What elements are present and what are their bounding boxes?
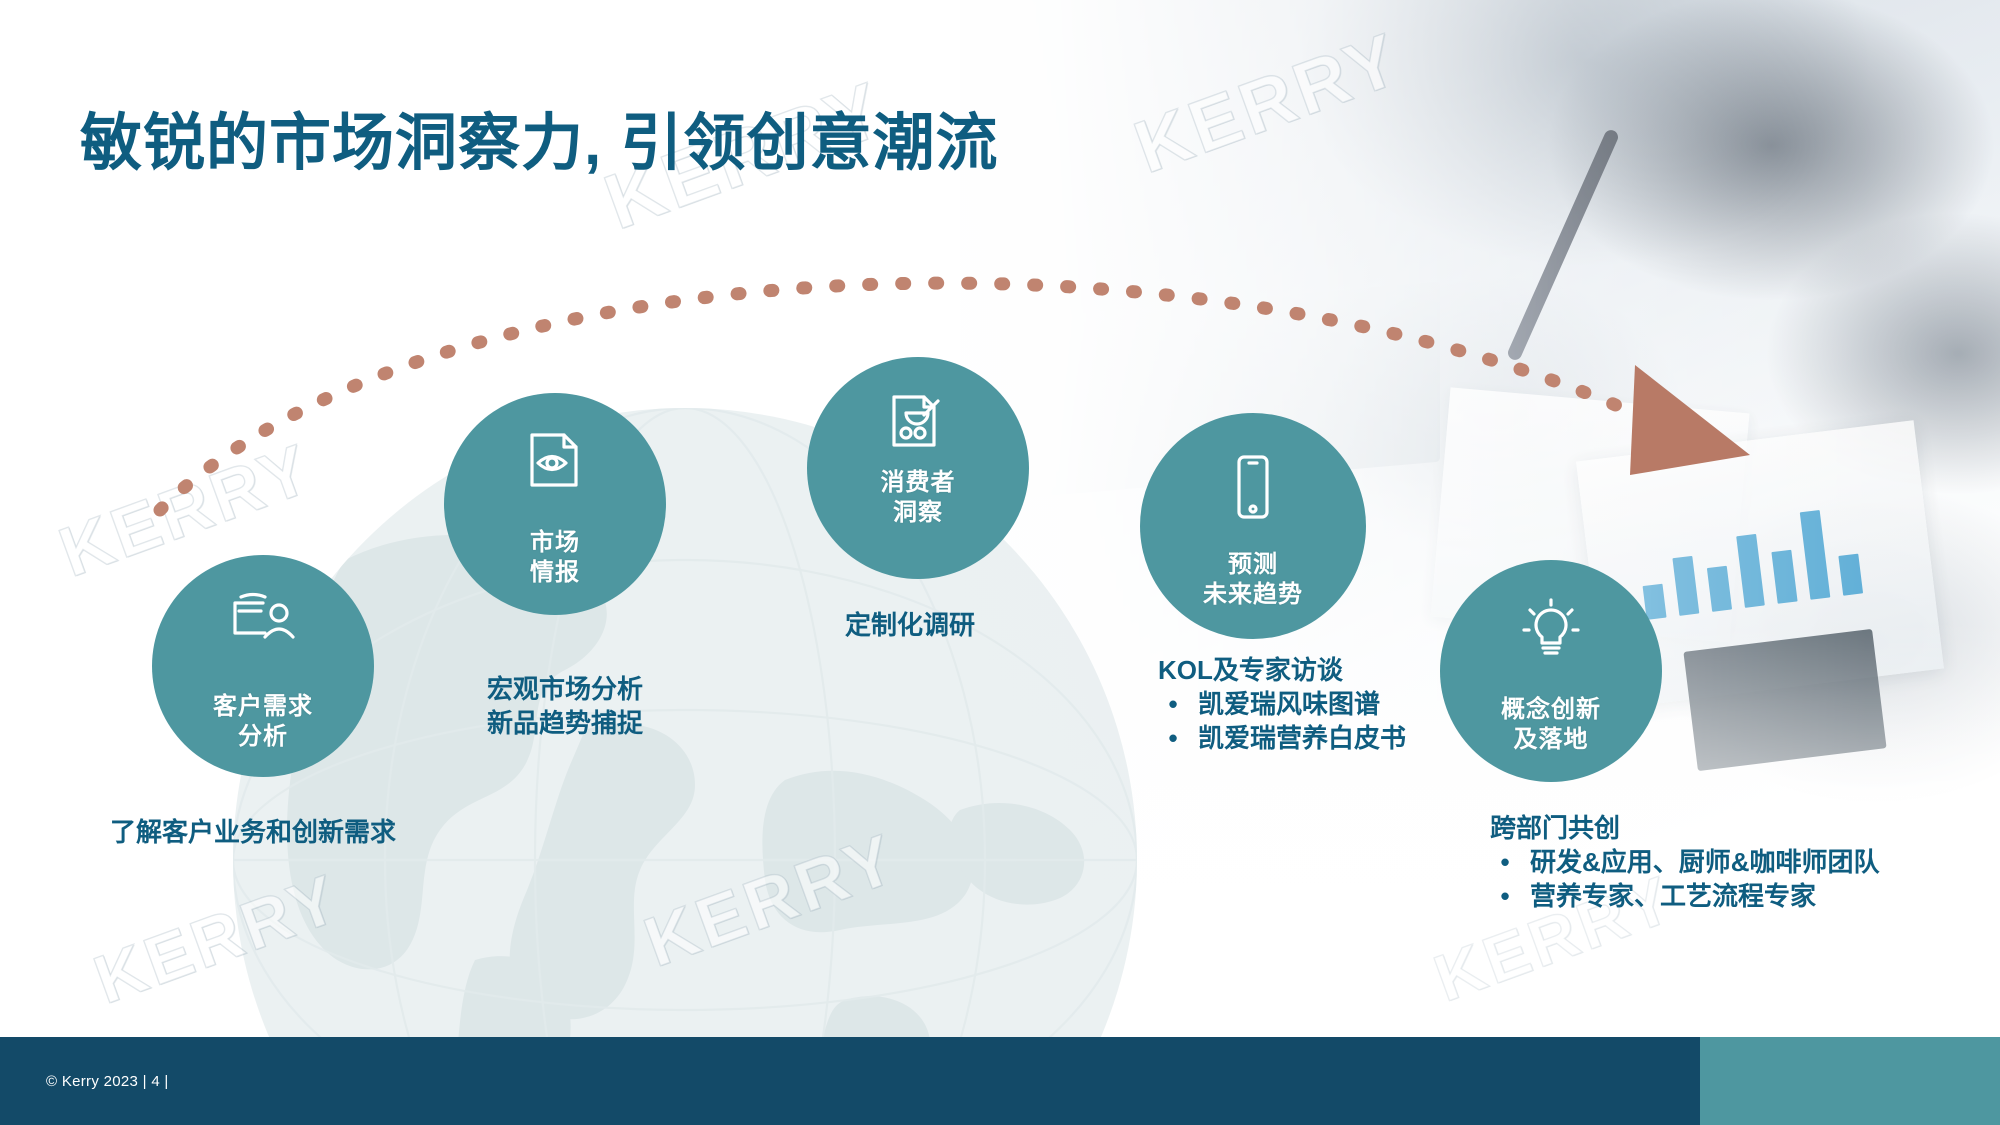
node-label-line2: 洞察: [881, 498, 956, 527]
footer-copyright: © Kerry 2023 | 4 |: [46, 1073, 169, 1090]
node-label-line1: 消费者: [881, 468, 956, 497]
node-label-line1: 概念创新: [1501, 695, 1601, 724]
node-label-line2: 分析: [213, 722, 313, 751]
node-label-line2: 未来趋势: [1203, 580, 1303, 609]
mortar-pestle-document-icon: [807, 391, 1029, 453]
caption-heading: 宏观市场分析: [487, 673, 643, 707]
slide-root: KERRY KERRY KERRY KERRY KERRY KERRY 敏锐的市…: [0, 0, 2000, 1125]
bullet-text: 营养专家、工艺流程专家: [1530, 880, 1816, 914]
clipboard-person-icon: [152, 591, 374, 651]
node-label-line2: 及落地: [1501, 725, 1601, 754]
footer-navy-bar: © Kerry 2023 | 4 |: [0, 1037, 1700, 1125]
document-eye-icon: [444, 429, 666, 491]
lightbulb-icon: [1440, 596, 1662, 658]
caption-heading: 定制化调研: [845, 609, 975, 643]
bullet-dot: •: [1490, 846, 1520, 880]
caption-cross-department: 跨部门共创 • 研发&应用、厨师&咖啡师团队 • 营养专家、工艺流程专家: [1490, 812, 1880, 913]
caption-heading: 跨部门共创: [1490, 812, 1880, 846]
bullet-text: 凯爱瑞营养白皮书: [1198, 722, 1406, 756]
node-label-line1: 客户需求: [213, 692, 313, 721]
node-concept-innovation[interactable]: 概念创新 及落地: [1440, 560, 1662, 782]
node-label: 市场 情报: [530, 528, 580, 587]
caption-kol: KOL及专家访谈 • 凯爱瑞风味图谱 • 凯爱瑞营养白皮书: [1158, 654, 1406, 755]
node-label-line2: 情报: [530, 558, 580, 587]
caption-bullet: • 研发&应用、厨师&咖啡师团队: [1490, 846, 1880, 880]
bullet-dot: •: [1158, 688, 1188, 722]
bullet-dot: •: [1158, 722, 1188, 756]
page-title: 敏锐的市场洞察力, 引领创意潮流: [80, 92, 998, 182]
caption-custom-research: 定制化调研: [845, 609, 975, 643]
node-consumer-insight[interactable]: 消费者 洞察: [807, 357, 1029, 579]
caption-subheading: 新品趋势捕捉: [487, 707, 643, 741]
node-label-line1: 预测: [1203, 550, 1303, 579]
node-label-line1: 市场: [530, 528, 580, 557]
caption-bullet: • 营养专家、工艺流程专家: [1490, 880, 1880, 914]
slide-footer: © Kerry 2023 | 4 |: [0, 1037, 2000, 1125]
node-label: 客户需求 分析: [213, 692, 313, 751]
bullet-text: 研发&应用、厨师&咖啡师团队: [1530, 846, 1880, 880]
node-market-intelligence[interactable]: 市场 情报: [444, 393, 666, 615]
caption-bullet: • 凯爱瑞营养白皮书: [1158, 722, 1406, 756]
bullet-dot: •: [1490, 880, 1520, 914]
node-label: 预测 未来趋势: [1203, 550, 1303, 609]
node-trend-forecast[interactable]: 预测 未来趋势: [1140, 413, 1366, 639]
caption-heading: KOL及专家访谈: [1158, 654, 1406, 688]
node-label: 消费者 洞察: [881, 468, 956, 527]
caption-market-intelligence: 宏观市场分析 新品趋势捕捉: [487, 673, 643, 741]
bullet-text: 凯爱瑞风味图谱: [1198, 688, 1380, 722]
caption-heading: 了解客户业务和创新需求: [110, 816, 396, 850]
node-customer-needs[interactable]: 客户需求 分析: [152, 555, 374, 777]
footer-teal-bar: [1700, 1037, 2000, 1125]
caption-bullet: • 凯爱瑞风味图谱: [1158, 688, 1406, 722]
node-label: 概念创新 及落地: [1501, 695, 1601, 754]
caption-customer-needs: 了解客户业务和创新需求: [110, 816, 396, 850]
mobile-phone-icon: [1140, 453, 1366, 525]
